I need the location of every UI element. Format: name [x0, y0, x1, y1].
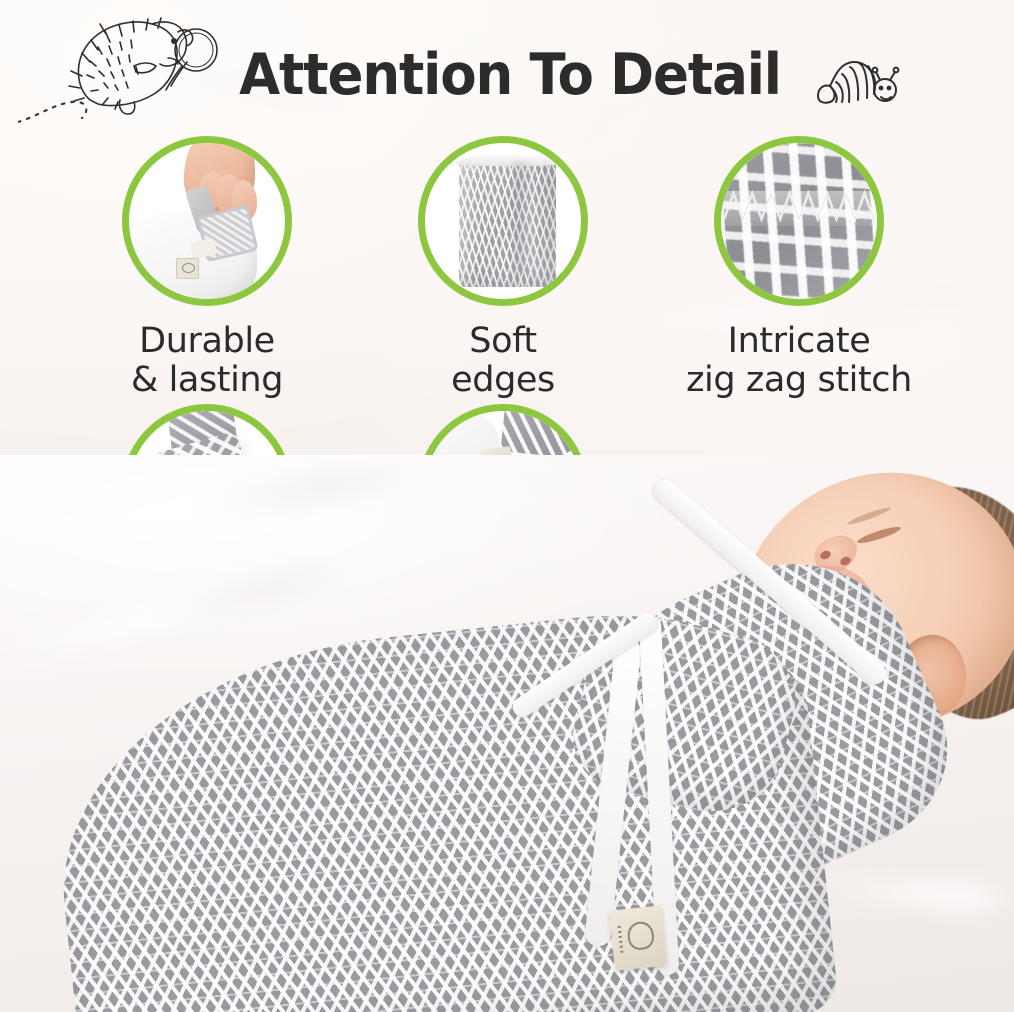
feature-label-soft-edges: Soft edges — [353, 322, 653, 400]
header: Attention To Detail — [0, 0, 1014, 128]
feature-label-line2: zig zag stitch — [649, 361, 949, 400]
feature-item-soft-edges[interactable]: Soft edges — [353, 136, 653, 400]
feature-item-zig-zag-stitch[interactable]: Intricate zig zag stitch — [649, 136, 949, 400]
hedgehog-with-magnifying-glass-icon — [18, 4, 218, 126]
feature-label-zig-zag-stitch: Intricate zig zag stitch — [649, 322, 949, 400]
feature-image-zig-zag-stitch — [714, 136, 884, 306]
feature-image-durable — [122, 136, 292, 306]
feature-label-line2: edges — [353, 361, 653, 400]
infographic-canvas: Attention To Detail — [0, 0, 1014, 1012]
brand-fabric-tag — [609, 905, 667, 970]
caterpillar-icon — [812, 52, 904, 108]
feature-label-durable: Durable & lasting — [57, 322, 357, 400]
feature-image-soft-edges — [418, 136, 588, 306]
feature-item-durable[interactable]: Durable & lasting — [57, 136, 357, 400]
feature-label-line2: & lasting — [57, 361, 357, 400]
hero-photo-swaddled-baby — [0, 455, 1014, 1012]
page-title: Attention To Detail — [226, 42, 793, 108]
feature-label-line1: Soft — [353, 322, 653, 361]
feature-label-line1: Durable — [57, 322, 357, 361]
feature-label-line1: Intricate — [649, 322, 949, 361]
